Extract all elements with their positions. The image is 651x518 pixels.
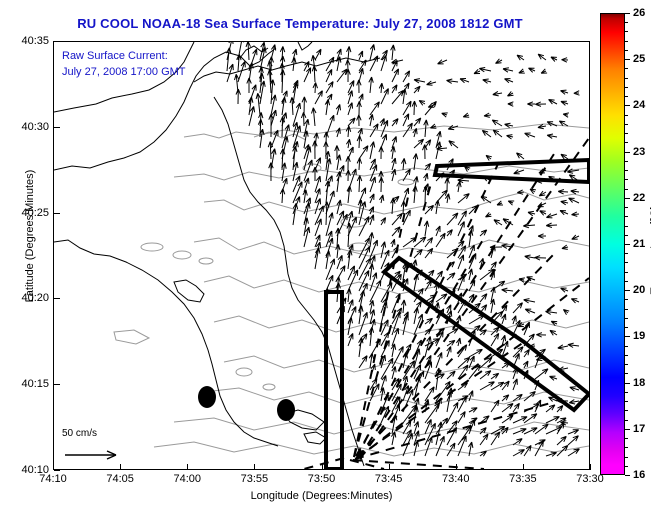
colorbar-minor-tick — [625, 438, 628, 439]
current-vector — [425, 437, 432, 456]
current-vector — [326, 57, 334, 71]
current-vector — [427, 81, 436, 85]
current-vector — [414, 79, 425, 83]
current-vector — [369, 264, 373, 280]
current-vector — [315, 91, 322, 104]
current-vector — [337, 214, 347, 236]
current-vector — [337, 200, 341, 214]
current-vector — [525, 309, 535, 313]
current-vector — [425, 101, 436, 115]
current-vector — [391, 239, 395, 247]
current-vector — [436, 352, 442, 368]
current-vector — [517, 153, 525, 159]
current-vector — [447, 79, 459, 83]
current-vector — [505, 79, 514, 83]
current-vector — [447, 273, 455, 280]
current-vector — [269, 163, 274, 181]
x-tick-mark — [254, 464, 255, 470]
colorbar-minor-tick — [625, 318, 628, 319]
current-vector — [483, 79, 491, 83]
y-tick-label: 40:15 — [49, 378, 77, 390]
radar-station-marker — [277, 399, 295, 421]
current-vector — [369, 207, 374, 214]
current-vector — [480, 434, 488, 445]
x-tick-label: 73:45 — [375, 473, 403, 485]
current-vector — [401, 201, 406, 214]
y-axis-label: Latitude (Degrees:Minutes) — [24, 146, 36, 326]
colorbar-minor-tick — [625, 253, 628, 254]
current-vector — [413, 186, 418, 203]
current-vector — [348, 118, 355, 126]
colorbar-minor-tick — [625, 262, 628, 263]
current-vector — [513, 403, 519, 412]
y-tick-label: 40:35 — [49, 35, 77, 47]
current-vector — [456, 338, 460, 346]
current-vector — [326, 69, 332, 82]
colorbar-tick-mark — [625, 290, 630, 291]
current-vector — [414, 118, 421, 126]
colorbar-minor-tick — [625, 22, 628, 23]
current-vector — [447, 213, 458, 225]
current-vector — [280, 117, 285, 137]
sst-map-figure: RU COOL NOAA-18 Sea Surface Temperature:… — [0, 0, 651, 518]
current-vector — [346, 126, 351, 137]
colorbar-minor-tick — [625, 299, 628, 300]
current-vector — [569, 198, 579, 203]
current-vector — [392, 213, 402, 225]
current-vector — [469, 408, 477, 413]
colorbar-minor-tick — [625, 410, 628, 411]
current-vector — [535, 369, 548, 379]
colorbar-tick-mark — [625, 198, 630, 199]
y-tick-label: 40:10 — [49, 464, 77, 476]
current-vector — [550, 330, 557, 335]
current-vector — [370, 142, 375, 159]
colorbar-minor-tick — [625, 142, 628, 143]
current-vector — [458, 241, 464, 247]
current-vector — [412, 101, 417, 115]
x-axis-label: Longitude (Degrees:Minutes) — [53, 490, 590, 502]
current-vector — [359, 258, 371, 280]
colorbar-minor-tick — [625, 96, 628, 97]
current-vector — [312, 66, 317, 82]
current-vector — [479, 68, 491, 72]
current-vector — [336, 244, 340, 258]
current-vector — [392, 136, 396, 148]
current-vector — [508, 201, 514, 205]
x-tick-label: 74:05 — [106, 473, 134, 485]
colorbar-minor-tick — [625, 170, 628, 171]
colorbar-minor-tick — [625, 226, 628, 227]
current-vector — [414, 139, 424, 148]
current-vector — [496, 59, 503, 64]
current-vector — [438, 60, 447, 64]
current-vector — [508, 102, 514, 107]
current-vector — [540, 211, 546, 216]
colorbar-minor-tick — [625, 133, 628, 134]
current-vector — [502, 415, 513, 423]
current-vector — [425, 280, 432, 291]
current-vector — [562, 245, 568, 249]
current-vector — [447, 340, 455, 346]
current-vector — [528, 211, 535, 215]
current-vector — [474, 69, 480, 73]
current-vector — [357, 115, 362, 126]
current-vector — [313, 167, 318, 181]
current-vector — [414, 86, 420, 93]
current-vector — [562, 58, 569, 63]
current-vector — [449, 141, 458, 148]
current-vector — [530, 189, 536, 194]
current-vector — [392, 158, 396, 170]
current-vector — [324, 202, 329, 225]
current-vector — [523, 223, 535, 228]
current-vector — [370, 56, 378, 71]
current-vector — [568, 436, 578, 445]
current-vector — [347, 223, 351, 247]
current-vector — [293, 203, 298, 225]
current-vector — [392, 119, 398, 126]
current-vector — [458, 412, 465, 424]
current-vector — [425, 163, 431, 170]
colorbar-minor-tick — [625, 392, 628, 393]
current-vector — [484, 113, 491, 117]
current-vector — [312, 108, 317, 126]
current-vector — [379, 83, 383, 93]
current-vector — [237, 54, 242, 71]
current-vector — [529, 68, 536, 72]
current-vector — [557, 406, 563, 413]
current-vector — [236, 89, 241, 104]
current-vector — [326, 82, 333, 94]
current-vector — [524, 392, 535, 402]
colorbar-minor-tick — [625, 124, 628, 125]
current-vector — [424, 221, 428, 236]
current-vector — [469, 349, 482, 357]
colorbar-minor-tick — [625, 87, 628, 88]
current-vector — [359, 146, 368, 159]
current-vector — [525, 133, 535, 137]
current-vector — [424, 173, 428, 181]
current-vector — [491, 333, 499, 346]
current-vector — [348, 333, 353, 346]
current-vector — [403, 114, 409, 126]
current-vector — [536, 333, 546, 338]
colorbar-minor-tick — [625, 447, 628, 448]
current-vector — [497, 201, 503, 205]
current-vector — [282, 97, 286, 115]
current-vector — [256, 93, 260, 115]
current-vector — [512, 316, 516, 324]
current-vector — [413, 154, 418, 171]
current-vector — [414, 176, 418, 192]
current-vector — [535, 440, 545, 445]
current-vector — [392, 227, 400, 236]
colorbar-minor-tick — [625, 355, 628, 356]
current-vector — [513, 379, 517, 390]
current-vector — [346, 139, 350, 148]
current-vector — [480, 230, 487, 236]
current-vector — [425, 318, 433, 324]
current-vector — [535, 424, 548, 434]
colorbar-tick-mark — [625, 429, 630, 430]
current-vector — [313, 83, 318, 94]
current-vector — [425, 387, 434, 401]
current-vector — [348, 300, 353, 313]
current-vector — [419, 101, 425, 106]
colorbar-minor-tick — [625, 161, 628, 162]
colorbar-minor-tick — [625, 327, 628, 328]
current-vector — [547, 122, 557, 126]
colorbar-minor-tick — [625, 68, 628, 69]
current-vector — [560, 211, 568, 215]
current-vector — [502, 404, 513, 413]
colorbar-minor-tick — [625, 373, 628, 374]
current-vector — [325, 99, 329, 115]
current-vector — [561, 200, 568, 204]
current-annotation: Raw Surface Current: July 27, 2008 17:00… — [62, 48, 186, 80]
colorbar-minor-tick — [625, 281, 628, 282]
current-vector — [546, 214, 557, 218]
current-vector — [370, 194, 374, 203]
current-vector — [447, 230, 452, 236]
current-vector — [503, 68, 513, 72]
colorbar-tick-label: 23 — [633, 146, 645, 158]
current-vector — [561, 154, 568, 159]
x-tick-label: 73:40 — [442, 473, 470, 485]
current-vector — [574, 91, 580, 96]
current-vector — [457, 181, 461, 192]
current-vector — [468, 230, 472, 247]
current-vector — [346, 156, 350, 170]
x-tick-label: 73:35 — [509, 473, 537, 485]
current-vector — [315, 49, 321, 60]
current-vector — [315, 219, 321, 236]
colorbar-minor-tick — [625, 235, 628, 236]
current-vector — [568, 430, 579, 434]
colorbar-tick-mark — [625, 475, 630, 476]
map-plot-area[interactable]: Raw Surface Current: July 27, 2008 17:00… — [53, 41, 590, 470]
current-vector — [505, 123, 513, 127]
current-vector — [381, 320, 388, 335]
current-vector — [547, 134, 557, 138]
current-vector — [379, 147, 384, 159]
colorbar — [600, 13, 625, 475]
current-vector — [535, 102, 546, 107]
current-vector — [491, 373, 499, 379]
current-vector — [370, 280, 381, 302]
current-vector — [281, 70, 285, 94]
scale-key-arrow — [64, 448, 124, 462]
current-vector — [558, 345, 568, 349]
current-vector — [392, 90, 403, 104]
current-vector — [357, 80, 361, 93]
current-vector — [557, 436, 566, 445]
map-canvas — [54, 42, 589, 469]
current-vector — [561, 101, 568, 105]
current-vector — [572, 235, 579, 239]
current-vector — [538, 54, 546, 60]
current-vector — [357, 101, 362, 115]
current-vector — [442, 113, 448, 117]
current-vector — [563, 113, 569, 117]
colorbar-tick-label: 26 — [633, 7, 645, 19]
current-vector — [523, 361, 528, 368]
current-vector — [494, 220, 502, 225]
current-vector — [541, 69, 547, 73]
current-vector — [348, 270, 358, 291]
current-vector — [403, 71, 410, 82]
current-vector — [380, 119, 384, 127]
current-vector — [246, 42, 251, 60]
current-vector — [513, 303, 523, 313]
current-vector — [346, 170, 351, 181]
colorbar-tick-mark — [625, 105, 630, 106]
colorbar-minor-tick — [625, 457, 628, 458]
current-vector — [313, 141, 318, 159]
current-vector — [370, 215, 374, 225]
current-vector — [369, 327, 373, 346]
current-vector — [348, 211, 353, 225]
current-vector — [302, 97, 307, 115]
colorbar-tick-label: 24 — [633, 99, 645, 111]
colorbar-tick-mark — [625, 383, 630, 384]
current-vector — [357, 175, 362, 192]
current-vector — [447, 443, 455, 456]
current-vector — [347, 289, 352, 302]
current-vector — [381, 242, 386, 258]
current-vector — [549, 100, 557, 105]
current-vector — [359, 356, 367, 368]
current-vector — [493, 91, 502, 96]
current-vector — [480, 294, 487, 302]
current-vector — [524, 299, 535, 303]
current-vector — [465, 166, 471, 171]
current-vector — [491, 262, 496, 269]
colorbar-minor-tick — [625, 115, 628, 116]
coastline — [54, 42, 380, 466]
current-vector — [401, 158, 406, 170]
current-vector — [326, 251, 330, 269]
current-vector — [568, 449, 579, 456]
x-tick-label: 73:55 — [241, 473, 269, 485]
current-vector — [403, 237, 416, 247]
colorbar-minor-tick — [625, 364, 628, 365]
current-vector — [493, 130, 502, 137]
current-vector — [546, 310, 558, 315]
current-vector — [502, 314, 506, 324]
current-vector — [391, 146, 395, 159]
current-vector — [482, 130, 491, 137]
colorbar-minor-tick — [625, 50, 628, 51]
current-vector — [468, 269, 472, 280]
colorbar-minor-tick — [625, 272, 628, 273]
y-tick-label: 40:20 — [49, 292, 77, 304]
current-vector — [336, 128, 340, 137]
current-vector — [568, 343, 579, 347]
colorbar-tick-label: 22 — [633, 192, 645, 204]
colorbar-minor-tick — [625, 41, 628, 42]
colorbar-tick-mark — [625, 244, 630, 245]
x-tick-mark — [322, 464, 323, 470]
current-vector — [486, 155, 492, 160]
current-vector — [527, 102, 535, 106]
colorbar-minor-tick — [625, 309, 628, 310]
current-vector — [525, 255, 535, 259]
current-vector — [359, 306, 364, 324]
colorbar-minor-tick — [625, 31, 628, 32]
x-tick-mark — [590, 464, 591, 470]
current-vector — [271, 149, 276, 170]
current-vector — [436, 294, 447, 302]
current-vector — [447, 329, 458, 335]
current-vector — [513, 429, 526, 434]
colorbar-minor-tick — [625, 401, 628, 402]
current-vector — [391, 45, 396, 60]
current-vector — [507, 135, 514, 139]
current-vector — [502, 395, 509, 401]
y-tick-label: 40:30 — [49, 121, 77, 133]
current-vector — [538, 234, 546, 239]
current-annotation-line2: July 27, 2008 17:00 GMT — [62, 64, 186, 80]
current-vector — [571, 299, 579, 303]
current-vector — [337, 171, 342, 192]
x-tick-label: 73:50 — [308, 473, 336, 485]
colorbar-tick-mark — [625, 336, 630, 337]
colorbar-minor-tick — [625, 346, 628, 347]
current-vector — [463, 113, 469, 117]
current-vector — [535, 256, 547, 261]
x-tick-mark — [389, 464, 390, 470]
current-vector — [359, 337, 363, 357]
current-vector — [486, 212, 492, 217]
colorbar-minor-tick — [625, 420, 628, 421]
current-vector — [539, 191, 546, 196]
current-vector — [492, 120, 502, 126]
current-vector — [348, 250, 353, 269]
current-vector — [381, 55, 386, 71]
current-vector — [513, 320, 520, 335]
current-vector — [550, 376, 558, 380]
current-vector — [546, 223, 557, 228]
current-vector — [369, 77, 374, 93]
colorbar-tick-label: 16 — [633, 469, 645, 481]
x-tick-mark — [120, 464, 121, 470]
current-vector — [359, 51, 363, 60]
current-vector — [572, 212, 580, 217]
current-vector — [524, 349, 529, 357]
current-vector — [357, 136, 362, 148]
current-vector — [436, 233, 445, 247]
colorbar-minor-tick — [625, 189, 628, 190]
colorbar-tick-mark — [625, 152, 630, 153]
current-vector — [546, 417, 559, 423]
colorbar-tick-mark — [625, 59, 630, 60]
current-vector — [563, 310, 569, 315]
current-vector — [403, 101, 411, 115]
colorbar-minor-tick — [625, 207, 628, 208]
current-vector — [347, 186, 351, 203]
radar-station-marker — [198, 386, 216, 408]
colorbar-tick-label: 17 — [633, 423, 645, 435]
current-vector — [369, 114, 373, 126]
current-vector — [513, 450, 525, 456]
colorbar-minor-tick — [625, 179, 628, 180]
current-vector — [546, 405, 555, 412]
x-tick-mark — [456, 464, 457, 470]
radar-station-markers — [198, 386, 295, 421]
current-annotation-line1: Raw Surface Current: — [62, 48, 186, 64]
